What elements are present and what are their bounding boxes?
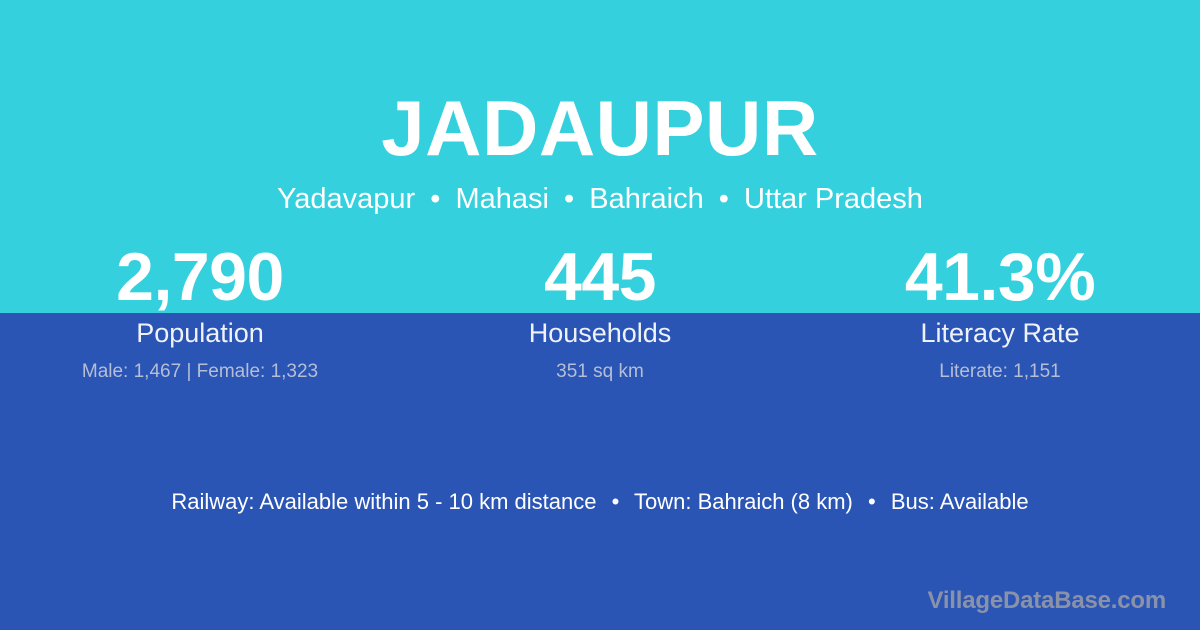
breadcrumb-separator-icon: • bbox=[712, 183, 736, 215]
stat-literacy-count: Literate: 1,151 bbox=[800, 359, 1200, 385]
breadcrumb-separator-icon: • bbox=[423, 183, 447, 215]
stat-households-label: Households bbox=[400, 316, 800, 350]
breadcrumb-separator-icon: • bbox=[557, 183, 581, 215]
amenity-separator-icon: • bbox=[603, 489, 629, 514]
stat-literacy-rate: 41.3% Literacy Rate Literate: 1,151 bbox=[800, 240, 1200, 385]
stat-households-value: 445 bbox=[400, 240, 800, 314]
stat-population: 2,790 Population Male: 1,467 | Female: 1… bbox=[0, 240, 400, 385]
page-title: JADAUPUR bbox=[0, 84, 1200, 172]
stat-population-breakdown: Male: 1,467 | Female: 1,323 bbox=[0, 359, 400, 385]
breadcrumb-item-district: Bahraich bbox=[589, 183, 703, 215]
stat-households: 445 Households 351 sq km bbox=[400, 240, 800, 385]
amenity-railway: Railway: Available within 5 - 10 km dist… bbox=[171, 489, 596, 514]
breadcrumb-item-village: Yadavapur bbox=[277, 183, 415, 215]
breadcrumb-item-block: Mahasi bbox=[455, 183, 549, 215]
amenities-line: Railway: Available within 5 - 10 km dist… bbox=[0, 487, 1200, 517]
breadcrumb-item-state: Uttar Pradesh bbox=[744, 183, 923, 215]
amenity-separator-icon: • bbox=[859, 489, 885, 514]
stat-households-area: 351 sq km bbox=[400, 359, 800, 385]
stats-row: 2,790 Population Male: 1,467 | Female: 1… bbox=[0, 240, 1200, 385]
amenity-bus: Bus: Available bbox=[891, 489, 1029, 514]
stat-population-value: 2,790 bbox=[0, 240, 400, 314]
amenity-town: Town: Bahraich (8 km) bbox=[634, 489, 853, 514]
stat-literacy-rate-value: 41.3% bbox=[800, 240, 1200, 314]
village-info-card: JADAUPUR Yadavapur • Mahasi • Bahraich •… bbox=[0, 0, 1200, 630]
site-brand-logo: VillageDataBase.com bbox=[927, 586, 1166, 616]
breadcrumb: Yadavapur • Mahasi • Bahraich • Uttar Pr… bbox=[0, 181, 1200, 217]
stat-literacy-rate-label: Literacy Rate bbox=[800, 316, 1200, 350]
stat-population-label: Population bbox=[0, 316, 400, 350]
